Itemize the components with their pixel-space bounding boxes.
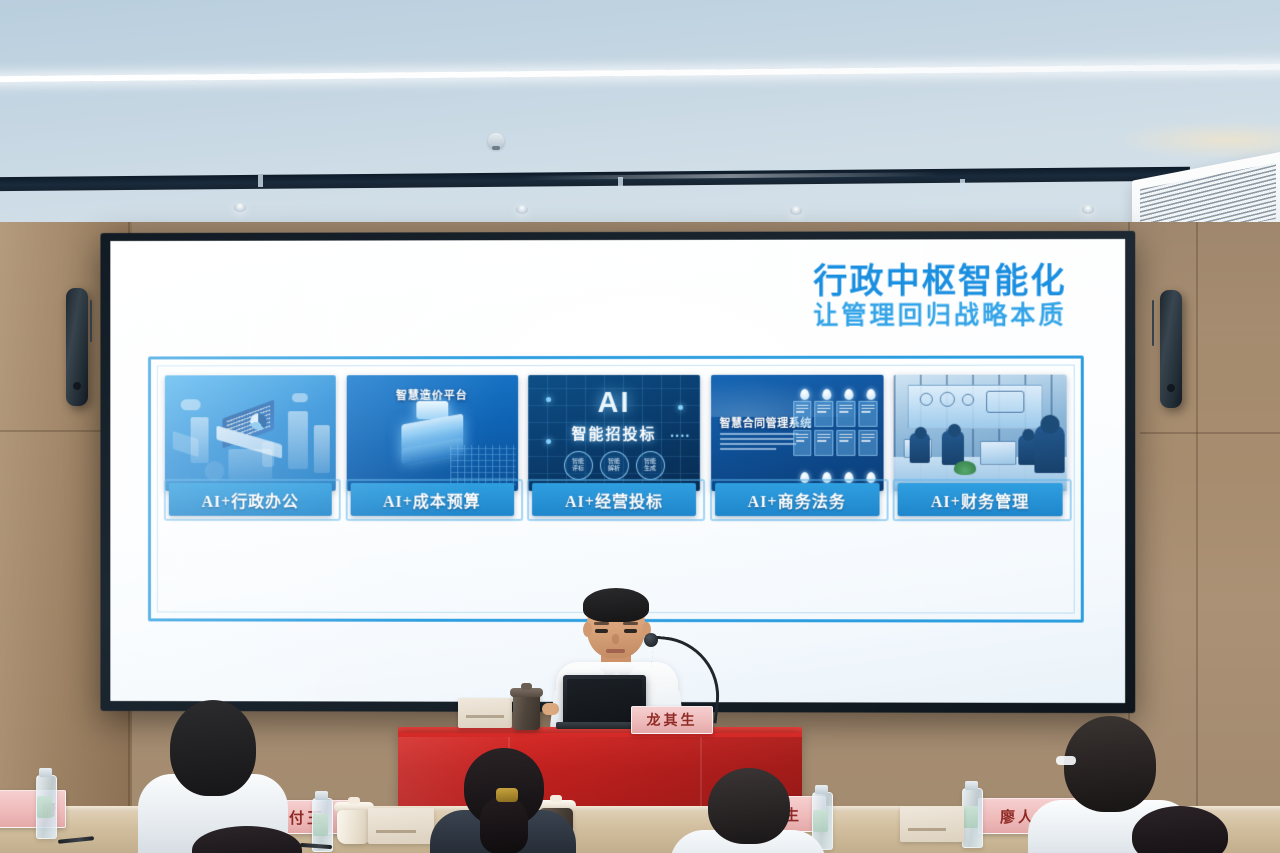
slide-title-sub: 让管理回归战略本质: [813, 302, 1066, 329]
hair-clip: [496, 788, 518, 802]
slide-title-block: 行政中枢智能化 让管理回归战略本质: [813, 263, 1066, 329]
slide-card: 智慧合同管理系统: [711, 375, 884, 516]
attendee-head: [170, 700, 256, 796]
card-thumbnail-cost-platform: 智慧造价平台: [346, 375, 517, 491]
presenter-hair: [583, 588, 649, 622]
wall-speaker-right: [1160, 290, 1182, 408]
card-thumbnail-ai-bidding: AI 智能招投标 •••• 智能评标 智能解析 智能生成: [528, 375, 700, 491]
tissue-box: [900, 806, 964, 842]
speaker-cable: [90, 300, 92, 342]
feature-badge: 智能解析: [600, 451, 629, 480]
tea-cup[interactable]: [337, 810, 371, 844]
card-thumbnail-finance-office: [894, 375, 1067, 491]
bottle-cap: [965, 781, 978, 790]
ceiling-light-strip: [0, 64, 1280, 82]
card-label: AI+成本预算: [350, 483, 513, 516]
tissue-box: [458, 698, 512, 728]
slide-card: AI 智能招投标 •••• 智能评标 智能解析 智能生成 AI+经营投标: [528, 375, 700, 516]
presenter-brow: [623, 622, 638, 625]
thumb-caption: AI: [528, 389, 700, 418]
paragraph-lines: [720, 433, 798, 453]
conference-room-photo: 行政中枢智能化 让管理回归战略本质: [0, 0, 1280, 853]
presenter-hand: [542, 703, 559, 715]
card-label: AI+商务法务: [715, 483, 879, 516]
downlight: [1082, 205, 1094, 214]
card-label: AI+财务管理: [898, 483, 1063, 516]
attendee-hair-bun: [480, 796, 528, 853]
track-slot: [960, 179, 965, 191]
ac-vent-glow: [1110, 120, 1280, 160]
presenter-nose: [612, 634, 619, 644]
slide-content-frame: AI+行政办公 智慧造价平台: [148, 356, 1084, 623]
card-thumbnail-admin-office: [165, 375, 336, 491]
eyeglasses-temple-icon: [1056, 756, 1076, 765]
track-slot: [258, 175, 263, 187]
presenter-ear: [583, 622, 592, 637]
card-label: AI+经营投标: [532, 483, 696, 516]
presenter-brow: [594, 622, 609, 625]
microphone-head-icon: [644, 633, 658, 647]
slide-card: AI+行政办公: [165, 375, 336, 516]
wall-speaker-left: [66, 288, 88, 406]
track-slot: [618, 177, 623, 189]
bottle-label: [37, 796, 52, 818]
attendee: [182, 826, 332, 853]
slide-card-row: AI+行政办公 智慧造价平台: [165, 375, 1067, 517]
plant-decoration: [954, 461, 976, 475]
attendee: [670, 768, 826, 853]
attendee-head: [708, 768, 790, 844]
card-thumbnail-contract-system: 智慧合同管理系统: [711, 375, 884, 491]
attendee-head: [192, 826, 302, 853]
feature-badge: 智能评标: [564, 451, 593, 480]
wall-seam: [1140, 432, 1280, 434]
tea-cup-knob: [348, 797, 360, 804]
slide-title-main: 行政中枢智能化: [813, 263, 1066, 300]
presenter-eye: [624, 629, 637, 633]
downlight: [234, 203, 246, 212]
ellipsis-dots: ••••: [670, 431, 691, 441]
slide-card: AI+财务管理: [894, 375, 1067, 517]
bottle-cap: [39, 768, 52, 777]
tea-cup-presenter: [513, 693, 540, 730]
speaker-cable: [1152, 300, 1154, 346]
wall-seam: [1196, 222, 1198, 853]
presenter-mouth: [606, 649, 625, 653]
ceiling: [0, 0, 1280, 236]
smoke-detector-icon: [488, 133, 504, 148]
card-label: AI+行政办公: [169, 483, 332, 516]
attendee: [1118, 806, 1244, 853]
feature-badge: 智能生成: [635, 451, 664, 480]
downlight: [790, 206, 802, 215]
tea-cup-knob: [521, 683, 532, 690]
bottle-label: [963, 806, 978, 828]
nameplate-presenter: 龙其生: [631, 706, 713, 734]
attendee-head: [1064, 716, 1156, 812]
feature-badge-row: 智能评标 智能解析 智能生成: [528, 451, 700, 480]
bottle-cap: [315, 791, 328, 800]
chart-donut-illustration: [250, 413, 267, 430]
module-card-grid: [793, 401, 877, 456]
slide-card: 智慧造价平台 AI+成本预算: [346, 375, 517, 516]
presenter-eye: [595, 629, 608, 633]
downlight: [516, 205, 528, 214]
attendee: [430, 748, 576, 853]
attendee-head: [1132, 806, 1228, 853]
tissue-box: [368, 808, 434, 844]
